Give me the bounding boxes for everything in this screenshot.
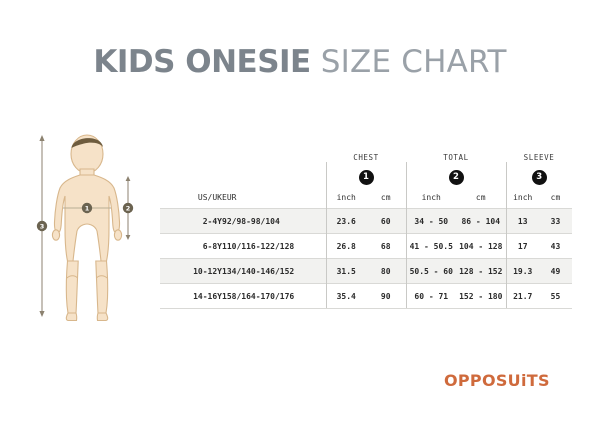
badge-cell-sleeve: 3 [506, 162, 572, 186]
cell-total-cm: 104 - 128 [456, 234, 506, 259]
cell-sleeve-cm: 33 [539, 209, 572, 234]
cell-eur: 110/116-122/128 [222, 234, 326, 259]
header-sleeve-inch: inch [506, 186, 539, 209]
cell-sleeve-cm: 49 [539, 259, 572, 284]
page-title: KIDS ONESIE SIZE CHART [0, 44, 600, 80]
size-chart-table-container: CHEST TOTAL SLEEVE 1 2 3 US/UK EUR inch … [160, 146, 572, 309]
page-title-bold: KIDS ONESIE [93, 44, 310, 80]
badge-number-3: 3 [532, 170, 547, 185]
cell-chest-inch: 26.8 [326, 234, 366, 259]
cell-sleeve-cm: 55 [539, 284, 572, 309]
spacer-cell-eur-2 [222, 162, 326, 186]
cell-total-inch: 60 - 71 [406, 284, 456, 309]
cell-chest-inch: 35.4 [326, 284, 366, 309]
cell-chest-cm: 80 [366, 259, 406, 284]
header-chest-inch: inch [326, 186, 366, 209]
table-row: 10-12Y 134/140-146/152 31.5 80 50.5 - 60… [160, 259, 572, 284]
spacer-cell-usuk-2 [160, 162, 222, 186]
cell-sleeve-inch: 21.7 [506, 284, 539, 309]
spacer-cell-eur [222, 146, 326, 162]
opposuits-logo: OPPOSUiTS [444, 371, 550, 390]
cell-chest-cm: 60 [366, 209, 406, 234]
group-label-total: TOTAL [406, 146, 506, 162]
cell-total-cm: 152 - 180 [456, 284, 506, 309]
table-row: 6-8Y 110/116-122/128 26.8 68 41 - 50.5 1… [160, 234, 572, 259]
cell-usuk: 2-4Y [160, 209, 222, 234]
header-eur: EUR [222, 186, 326, 209]
child-body-illustration: 1 2 3 [30, 128, 165, 323]
cell-total-inch: 34 - 50 [406, 209, 456, 234]
header-total-cm: cm [456, 186, 506, 209]
cell-sleeve-inch: 19.3 [506, 259, 539, 284]
cell-chest-inch: 31.5 [326, 259, 366, 284]
cell-sleeve-inch: 17 [506, 234, 539, 259]
cell-sleeve-inch: 13 [506, 209, 539, 234]
cell-chest-inch: 23.6 [326, 209, 366, 234]
svg-text:2: 2 [126, 205, 131, 213]
cell-total-cm: 86 - 104 [456, 209, 506, 234]
cell-usuk: 10-12Y [160, 259, 222, 284]
group-label-row: CHEST TOTAL SLEEVE [160, 146, 572, 162]
sleeve-measure-arrow: 2 [123, 176, 133, 240]
badge-number-2: 2 [449, 170, 464, 185]
header-sleeve-cm: cm [539, 186, 572, 209]
cell-eur: 134/140-146/152 [222, 259, 326, 284]
measurement-figure: 1 2 3 [30, 128, 165, 323]
cell-sleeve-cm: 43 [539, 234, 572, 259]
cell-total-cm: 128 - 152 [456, 259, 506, 284]
table-row: 14-16Y 158/164-170/176 35.4 90 60 - 71 1… [160, 284, 572, 309]
cell-chest-cm: 90 [366, 284, 406, 309]
cell-eur: 158/164-170/176 [222, 284, 326, 309]
cell-usuk: 6-8Y [160, 234, 222, 259]
cell-total-inch: 50.5 - 60 [406, 259, 456, 284]
spacer-cell-usuk [160, 146, 222, 162]
body-shape [52, 135, 121, 321]
page-title-light: SIZE CHART [311, 44, 507, 80]
group-label-sleeve: SLEEVE [506, 146, 572, 162]
group-label-chest: CHEST [326, 146, 406, 162]
header-usuk: US/UK [160, 186, 222, 209]
header-total-inch: inch [406, 186, 456, 209]
badge-cell-total: 2 [406, 162, 506, 186]
cell-total-inch: 41 - 50.5 [406, 234, 456, 259]
badge-number-1: 1 [359, 170, 374, 185]
unit-header-row: US/UK EUR inch cm inch cm inch cm [160, 186, 572, 209]
badge-cell-chest: 1 [326, 162, 406, 186]
size-chart-table: CHEST TOTAL SLEEVE 1 2 3 US/UK EUR inch … [160, 146, 572, 309]
total-measure-arrow: 3 [37, 135, 47, 317]
cell-chest-cm: 68 [366, 234, 406, 259]
header-chest-cm: cm [366, 186, 406, 209]
table-row: 2-4Y 92/98-98/104 23.6 60 34 - 50 86 - 1… [160, 209, 572, 234]
group-badge-row: 1 2 3 [160, 162, 572, 186]
svg-text:1: 1 [85, 205, 90, 213]
svg-text:3: 3 [40, 223, 45, 231]
cell-eur: 92/98-98/104 [222, 209, 326, 234]
cell-usuk: 14-16Y [160, 284, 222, 309]
